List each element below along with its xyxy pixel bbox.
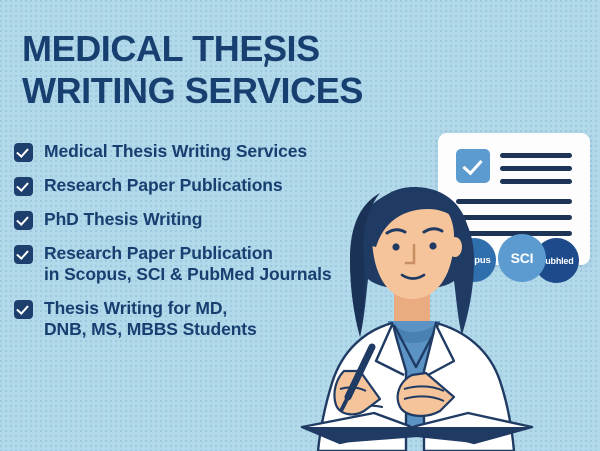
check-icon: [14, 143, 33, 162]
list-item-label: Thesis Writing for MD, DNB, MS, MBBS Stu…: [44, 298, 257, 340]
check-icon: [14, 211, 33, 230]
check-icon: [14, 245, 33, 264]
page-title: MEDICAL THESIS WRITING SERVICES: [22, 28, 442, 112]
document-text-line: [500, 166, 572, 171]
document-text-line: [500, 153, 572, 158]
check-icon: [14, 177, 33, 196]
list-item-label: PhD Thesis Writing: [44, 209, 202, 230]
promo-banner: MEDICAL THESIS WRITING SERVICES Medical …: [0, 0, 600, 451]
doctor-illustration: [288, 175, 538, 451]
title-line-1: MEDICAL THESIS: [22, 28, 442, 70]
check-icon: [14, 300, 33, 319]
title-line-2: WRITING SERVICES: [22, 70, 442, 112]
list-item[interactable]: Medical Thesis Writing Services: [14, 141, 394, 162]
list-item-label: Medical Thesis Writing Services: [44, 141, 307, 162]
list-item-label: Research Paper Publications: [44, 175, 283, 196]
